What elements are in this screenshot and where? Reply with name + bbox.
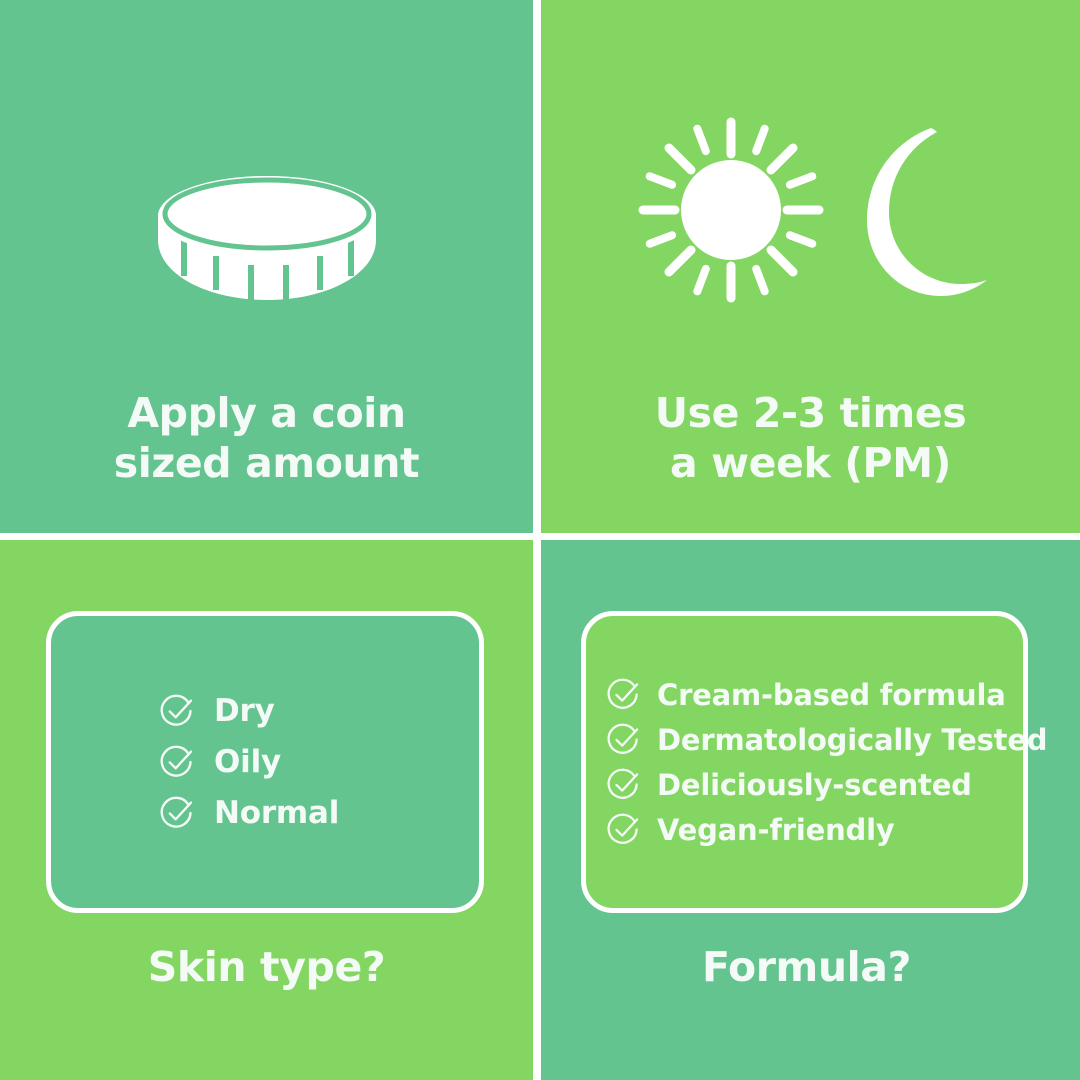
caption-line-1: Apply a coin: [0, 388, 533, 438]
panel-usage-frequency: Use 2-3 times a week (PM): [541, 0, 1080, 533]
list-item[interactable]: Normal: [159, 795, 479, 831]
list-item-label: Cream-based formula: [657, 678, 1006, 712]
product-usage-infographic: Apply a coin sized amount: [0, 0, 1080, 1080]
list-item-label: Dermatologically Tested: [657, 723, 1047, 757]
list-item[interactable]: Vegan-friendly: [606, 812, 1023, 847]
skin-type-list: Dry Oily Normal: [159, 678, 479, 846]
circle-check-icon: [606, 677, 641, 712]
sun-icon: [643, 122, 819, 298]
circle-check-icon: [606, 812, 641, 847]
list-item-label: Normal: [214, 795, 339, 831]
list-item-label: Dry: [214, 693, 275, 729]
circle-check-icon: [159, 795, 195, 831]
caption-apply-amount: Apply a coin sized amount: [0, 388, 533, 488]
circle-check-icon: [159, 744, 195, 780]
panel-skin-type: Dry Oily Normal Ski: [0, 540, 533, 1080]
list-item-label: Oily: [214, 744, 281, 780]
list-item-label: Deliciously-scented: [657, 768, 972, 802]
formula-question: Formula?: [541, 943, 1080, 991]
circle-check-icon: [159, 693, 195, 729]
crescent-moon-icon: [867, 128, 987, 296]
formula-card: Cream-based formula Dermatologically Tes…: [581, 611, 1028, 913]
caption-usage-frequency: Use 2-3 times a week (PM): [541, 388, 1080, 488]
list-item-label: Vegan-friendly: [657, 813, 895, 847]
list-item[interactable]: Deliciously-scented: [606, 767, 1023, 802]
panel-apply-amount: Apply a coin sized amount: [0, 0, 533, 533]
list-item[interactable]: Oily: [159, 744, 479, 780]
list-item[interactable]: Dermatologically Tested: [606, 722, 1023, 757]
formula-list: Cream-based formula Dermatologically Tes…: [606, 667, 1023, 857]
sun-moon-icon-group: [541, 110, 1080, 310]
list-item[interactable]: Cream-based formula: [606, 677, 1023, 712]
circle-check-icon: [606, 767, 641, 802]
caption-line-1: Use 2-3 times: [541, 388, 1080, 438]
skin-type-question: Skin type?: [0, 943, 533, 991]
coin-icon: [0, 160, 533, 320]
circle-check-icon: [606, 722, 641, 757]
skin-type-card: Dry Oily Normal: [46, 611, 484, 913]
list-item[interactable]: Dry: [159, 693, 479, 729]
caption-line-2: sized amount: [0, 438, 533, 488]
caption-line-2: a week (PM): [541, 438, 1080, 488]
panel-formula: Cream-based formula Dermatologically Tes…: [541, 540, 1080, 1080]
